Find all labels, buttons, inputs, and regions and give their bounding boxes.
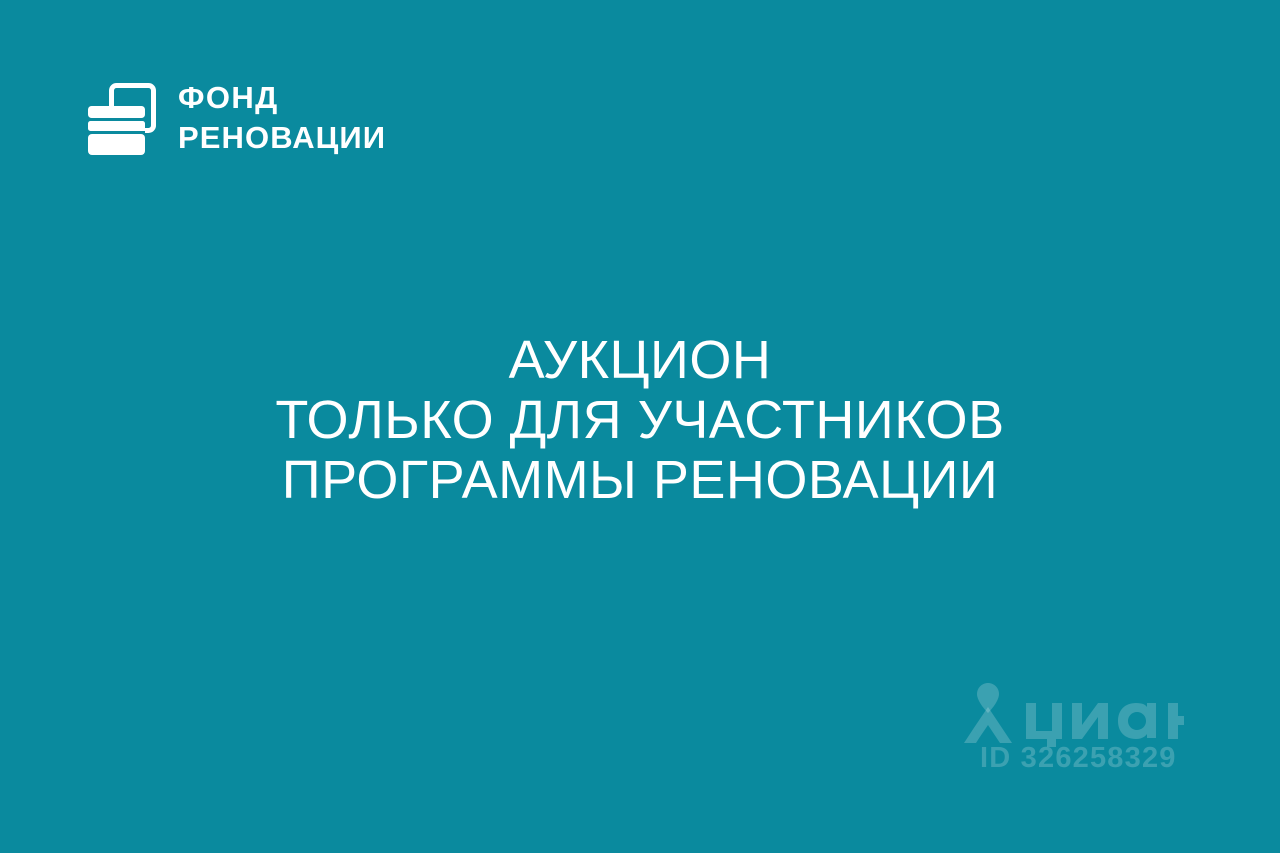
brand-wordmark: ФОНД РЕНОВАЦИИ bbox=[178, 78, 488, 158]
banner-canvas: ФОНД РЕНОВАЦИИ АУКЦИОН ТОЛЬКО ДЛЯ УЧАСТН… bbox=[0, 0, 1280, 853]
brand-lockup: ФОНД РЕНОВАЦИИ bbox=[82, 70, 502, 166]
headline-line-2: ТОЛЬКО ДЛЯ УЧАСТНИКОВ bbox=[40, 390, 1240, 450]
cian-logo-icon bbox=[954, 681, 1184, 747]
cian-listing-id: ID 326258329 bbox=[980, 741, 1177, 775]
cian-watermark: ID 326258329 bbox=[954, 681, 1184, 781]
headline-line-1: АУКЦИОН bbox=[40, 330, 1240, 390]
brand-line-fond: ФОНД bbox=[178, 78, 488, 118]
brand-line-renovatsii: РЕНОВАЦИИ bbox=[178, 118, 488, 158]
headline-line-3: ПРОГРАММЫ РЕНОВАЦИИ bbox=[40, 450, 1240, 510]
fond-renovatsii-logo-icon bbox=[82, 70, 174, 162]
headline-block: АУКЦИОН ТОЛЬКО ДЛЯ УЧАСТНИКОВ ПРОГРАММЫ … bbox=[0, 330, 1280, 510]
